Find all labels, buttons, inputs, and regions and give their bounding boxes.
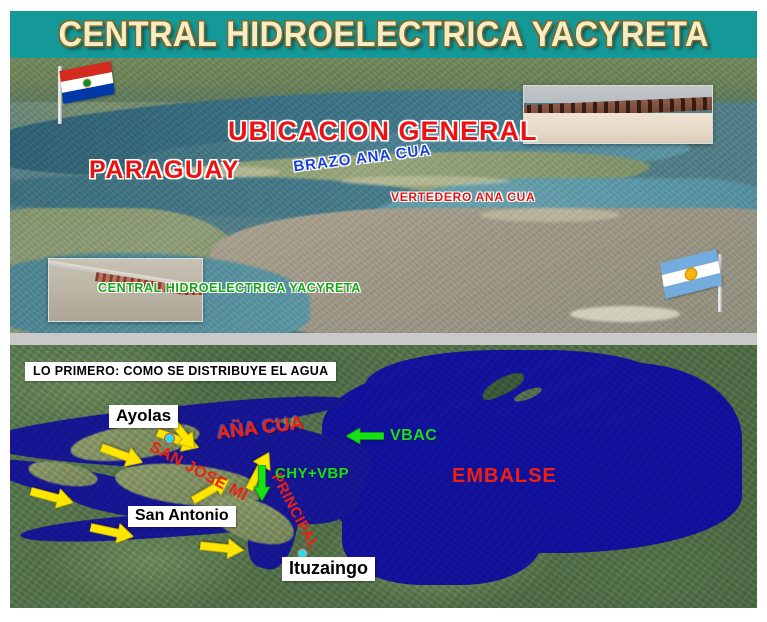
inset-photo-vertedero-ana-cua	[523, 85, 713, 144]
inset-tailwater	[49, 295, 202, 321]
inset-spilling-water	[524, 113, 712, 143]
section-heading-ubicacion-general: UBICACION GENERAL	[228, 116, 538, 147]
flow-label-vbac: VBAC	[390, 427, 437, 445]
city-label-san-antonio: San Antonio	[128, 506, 236, 527]
map-heading-box: LO PRIMERO: COMO SE DISTRIBUYE EL AGUA	[25, 362, 336, 381]
flow-label-chy-vbp: CHY+VBP	[275, 465, 349, 482]
imagery-texture	[10, 345, 757, 608]
panel-separator	[10, 333, 757, 345]
discharge-arrow-chy-vbp	[253, 465, 271, 501]
country-label-paraguay: PARAGUAY	[89, 156, 240, 185]
page-title: CENTRAL HIDROELECTRICA YACYRETA	[58, 15, 708, 55]
feature-label-central-hidroelectrica-yacyreta: CENTRAL HIDROELECTRICA YACYRETA	[98, 281, 361, 295]
city-marker-ayolas	[164, 433, 175, 444]
discharge-arrow-vbac	[346, 427, 384, 445]
header-band: CENTRAL HIDROELECTRICA YACYRETA	[10, 11, 757, 58]
water-distribution-map: LO PRIMERO: COMO SE DISTRIBUYE EL AGUA	[10, 345, 757, 608]
zone-label-embalse: EMBALSE	[452, 465, 557, 488]
slide-root: CENTRAL HIDROELECTRICA YACYRETA	[0, 0, 767, 622]
city-label-ayolas: Ayolas	[109, 405, 178, 428]
feature-label-vertedero-ana-cua: VERTEDERO ANA CUA	[391, 190, 535, 204]
aerial-location-photo: UBICACION GENERAL PARAGUAY BRAZO ANA CUA…	[10, 58, 757, 333]
city-label-ituzaingo: Ituzaingo	[282, 557, 375, 581]
